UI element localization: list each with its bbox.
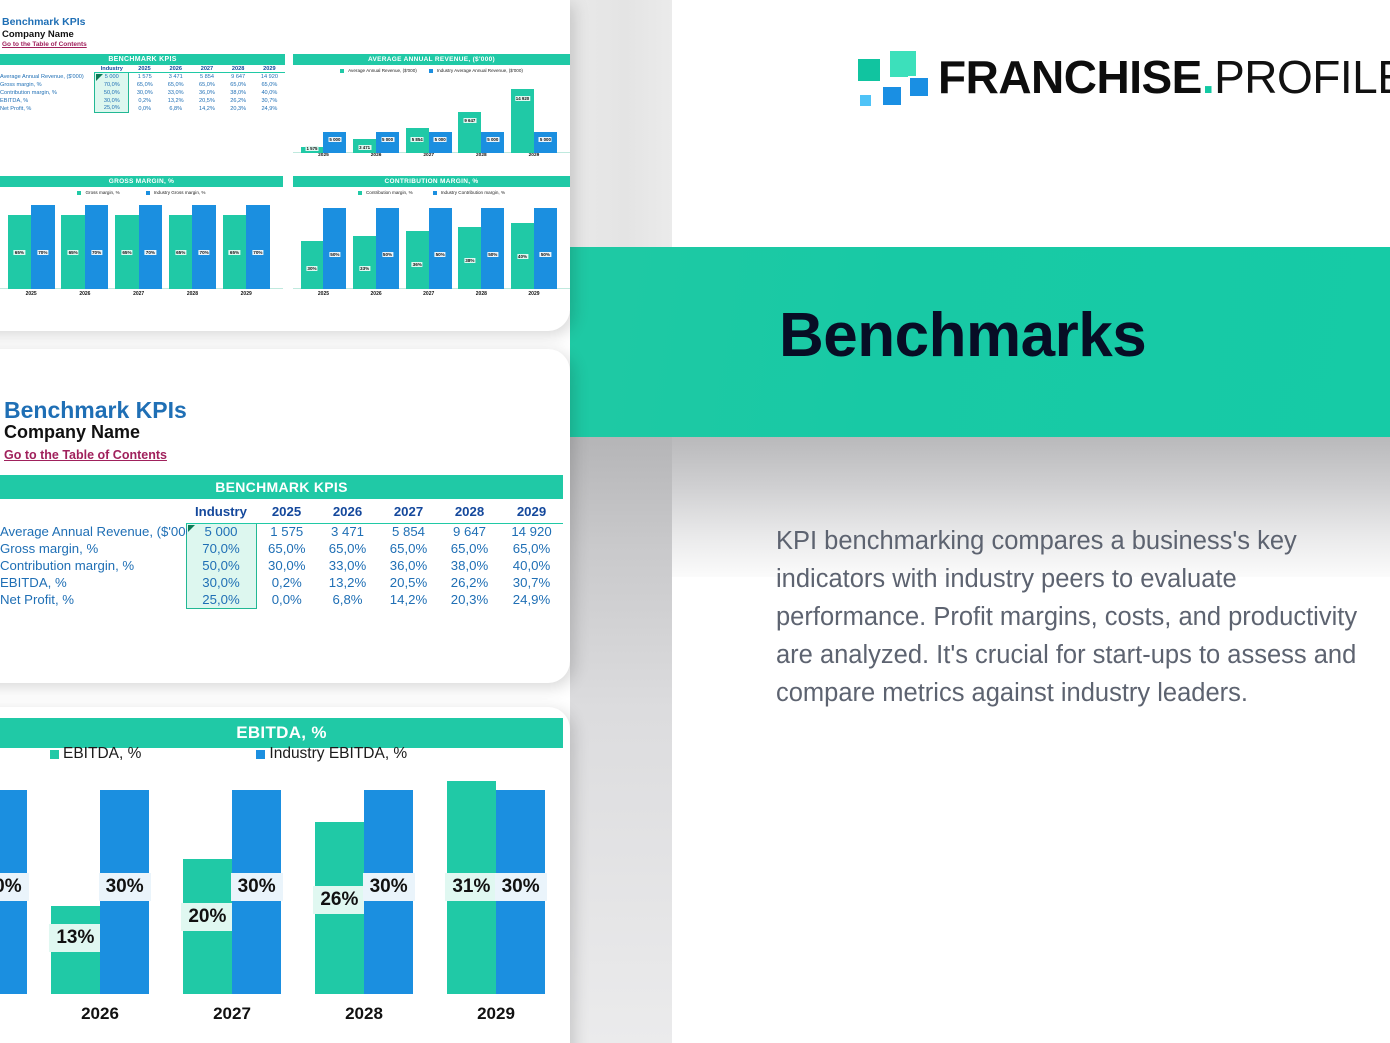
table-row: Contribution margin, % 50,0% 30,0% 33,0%… <box>0 557 563 574</box>
row-label-ebitda: EBITDA, % <box>0 574 186 591</box>
cell-industry: 70,0% <box>186 540 256 557</box>
x-tick-label: 2025 <box>299 291 349 297</box>
table-row: Net Profit, % 25,0% 0,0% 6,8% 14,2% 20,3… <box>0 105 285 113</box>
chart-title: AVERAGE ANNUAL REVENUE, ($'000) <box>293 54 570 65</box>
cell-industry: 5 000 <box>186 523 256 540</box>
x-tick-label: 2026 <box>59 291 110 297</box>
plot-area-ebitda: 30% 13% 30% 20% 30% 26% 30% 31% 30% <box>0 779 563 994</box>
x-tick-label: 2027 <box>113 291 164 297</box>
chart-title-ebitda: EBITDA, % <box>0 718 563 748</box>
chart-title: CONTRIBUTION MARGIN, % <box>293 176 570 187</box>
cell-value: 65,0% <box>256 540 317 557</box>
x-tick-label-ebitda: 2029 <box>440 1004 552 1024</box>
x-tick-label: 2028 <box>456 291 506 297</box>
brand-logo: FRANCHISE.PROFILES <box>852 44 1390 110</box>
row-label-contribution-margin: Contribution margin, % <box>0 557 186 574</box>
cell-value: 33,0% <box>317 557 378 574</box>
sheet-title-small: Benchmark KPIs <box>2 16 85 28</box>
x-tick-label: 2025 <box>299 153 349 158</box>
cell-value: 0,2% <box>256 574 317 591</box>
description-paragraph: KPI benchmarking compares a business's k… <box>776 522 1361 712</box>
x-tick-label: 2028 <box>167 291 218 297</box>
background-gray-column-lower <box>570 437 672 1043</box>
cell-value: 14 920 <box>500 523 563 540</box>
cell-value: 65,0% <box>439 540 500 557</box>
row-label-gross-margin: Gross margin, % <box>0 540 186 557</box>
cell-value: 30,0% <box>256 557 317 574</box>
cell-value: 40,0% <box>500 557 563 574</box>
cell-value: 3 471 <box>317 523 378 540</box>
logo-text-bold: FRANCHISE <box>938 51 1202 103</box>
table-row: Average Annual Revenue, ($'000) 5 000 1 … <box>0 73 285 81</box>
col-header-2028: 2028 <box>439 501 500 523</box>
x-tick-label: 2028 <box>456 153 506 158</box>
table-row: EBITDA, % 30,0% 0,2% 13,2% 20,5% 26,2% 3… <box>0 574 563 591</box>
screenshot-card-kpi-table: Benchmark KPIs Company Name Go to the Ta… <box>0 349 570 683</box>
cell-value: 5 854 <box>378 523 439 540</box>
x-tick-label: 2029 <box>509 291 559 297</box>
toc-link[interactable]: Go to the Table of Contents <box>4 448 167 462</box>
row-label-net-profit: Net Profit, % <box>0 591 186 608</box>
table-row: Average Annual Revenue, ($'000) 5 000 1 … <box>0 523 563 540</box>
legend-label-industry-ebitda: Industry EBITDA, % <box>269 745 407 763</box>
cell-value: 36,0% <box>378 557 439 574</box>
cell-industry: 25,0% <box>186 591 256 608</box>
cell-value: 38,0% <box>439 557 500 574</box>
chart-average-annual-revenue-small: AVERAGE ANNUAL REVENUE, ($'000) Average … <box>293 54 570 174</box>
legend-label: Gross margin, % <box>85 190 119 195</box>
cell-value: 26,2% <box>439 574 500 591</box>
chart-gross-margin-small: GROSS MARGIN, % Gross margin, % Industry… <box>0 176 283 311</box>
screenshot-card-overview: Benchmark KPIs Company Name Go to the Ta… <box>0 0 570 331</box>
legend-label: Contribution margin, % <box>366 190 413 195</box>
sheet-title: Benchmark KPIs <box>4 397 187 424</box>
col-header-2029: 2029 <box>500 501 563 523</box>
slide-canvas: FRANCHISE.PROFILES Benchmarks KPI benchm… <box>0 0 1390 1043</box>
cell-value: 20,5% <box>378 574 439 591</box>
col-header-industry: Industry <box>186 501 256 523</box>
cell-value: 20,3% <box>439 591 500 608</box>
x-tick-label: 2029 <box>221 291 272 297</box>
cell-value: 13,2% <box>317 574 378 591</box>
x-tick-label: 2027 <box>404 291 454 297</box>
x-tick-label: 2025 <box>6 291 57 297</box>
table-row: Gross margin, % 70,0% 65,0% 65,0% 65,0% … <box>0 81 285 89</box>
plot-area: 65%70% 65%70% 65%70% 65%70% 65%70% <box>0 199 283 289</box>
table-row: Contribution margin, % 50,0% 30,0% 33,0%… <box>0 89 285 97</box>
col-header-2027: 2027 <box>378 501 439 523</box>
page-title: Benchmarks <box>779 305 1146 367</box>
sheet-subtitle-small: Company Name <box>2 29 74 40</box>
cell-value: 1 575 <box>256 523 317 540</box>
cell-industry: 30,0% <box>186 574 256 591</box>
sheet-subtitle: Company Name <box>4 422 140 443</box>
cell-value: 6,8% <box>317 591 378 608</box>
cell-value: 30,7% <box>500 574 563 591</box>
chart-contribution-margin-small: CONTRIBUTION MARGIN, % Contribution marg… <box>293 176 570 311</box>
x-tick-label: 2026 <box>351 153 401 158</box>
x-tick-label: 2026 <box>351 291 401 297</box>
legend-label: Average Annual Revenue, ($'000) <box>348 68 417 73</box>
legend-label-ebitda: EBITDA, % <box>63 745 141 763</box>
cell-value: 14,2% <box>378 591 439 608</box>
cell-value: 65,0% <box>378 540 439 557</box>
kpi-table-header-small: BENCHMARK KPIS <box>0 54 285 65</box>
toc-link-small[interactable]: Go to the Table of Contents <box>2 41 87 48</box>
plot-area: 30%50% 33%50% 36%50% 38%50% 40%50% <box>293 199 570 289</box>
plot-area: 1 5755 000 3 4715 000 5 8545 000 9 6475 … <box>293 75 570 153</box>
legend-label: Industry Gross margin, % <box>154 190 206 195</box>
logo-wordmark: FRANCHISE.PROFILES <box>938 54 1390 100</box>
table-row: Net Profit, % 25,0% 0,0% 6,8% 14,2% 20,3… <box>0 591 563 608</box>
cell-value: 9 647 <box>439 523 500 540</box>
x-tick-label: 2029 <box>509 153 559 158</box>
legend-label: Industry Contribution margin, % <box>441 190 505 195</box>
table-row: EBITDA, % 30,0% 0,2% 13,2% 20,5% 26,2% 3… <box>0 97 285 105</box>
cell-value: 0,0% <box>256 591 317 608</box>
x-tick-label-ebitda: 2026 <box>44 1004 156 1024</box>
x-tick-label-ebitda: 2025 <box>0 1004 34 1024</box>
table-row: Gross margin, % 70,0% 65,0% 65,0% 65,0% … <box>0 540 563 557</box>
col-header-2025: 2025 <box>256 501 317 523</box>
col-header-2026: 2026 <box>317 501 378 523</box>
x-tick-label: 2027 <box>404 153 454 158</box>
cell-industry: 50,0% <box>186 557 256 574</box>
screenshot-card-ebitda-chart: EBITDA, % EBITDA, % Industry EBITDA, % 3… <box>0 707 570 1043</box>
chart-title: GROSS MARGIN, % <box>0 176 283 187</box>
x-tick-label-ebitda: 2027 <box>176 1004 288 1024</box>
logo-squares-icon <box>852 47 924 107</box>
row-label-revenue: Average Annual Revenue, ($'000) <box>0 523 186 540</box>
legend-label: Industry Average Annual Revenue, ($'000) <box>437 68 523 73</box>
x-tick-label-ebitda: 2028 <box>308 1004 420 1024</box>
kpi-table-header: BENCHMARK KPIS <box>0 475 563 499</box>
logo-dot: . <box>1202 51 1214 103</box>
cell-value: 65,0% <box>500 540 563 557</box>
cell-value: 24,9% <box>500 591 563 608</box>
logo-text-thin: PROFILES <box>1214 51 1390 103</box>
cell-value: 65,0% <box>317 540 378 557</box>
